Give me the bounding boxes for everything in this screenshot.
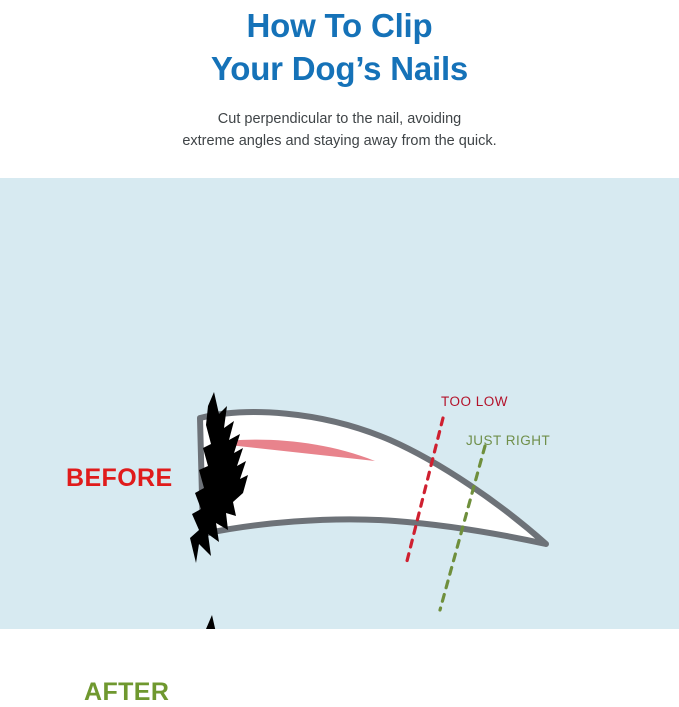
- diagram-illustration: [0, 178, 679, 629]
- before-nail-body: [200, 412, 546, 544]
- subtitle-line-1: Cut perpendicular to the nail, avoiding: [0, 108, 679, 130]
- too-low-label: TOO LOW: [441, 394, 508, 409]
- title-line-2: Your Dog’s Nails: [0, 47, 679, 90]
- page-subtitle: Cut perpendicular to the nail, avoiding …: [0, 108, 679, 152]
- after-paw-fur: [188, 615, 246, 629]
- title-line-1: How To Clip: [0, 4, 679, 47]
- after-nail-illustration: [188, 615, 462, 629]
- after-label: AFTER: [84, 678, 169, 707]
- just-right-label: JUST RIGHT: [466, 433, 550, 448]
- before-label: BEFORE: [66, 464, 173, 493]
- diagram-panel: BEFORE AFTER TOO LOW JUST RIGHT: [0, 178, 679, 629]
- before-nail-illustration: [190, 392, 546, 563]
- subtitle-line-2: extreme angles and staying away from the…: [0, 130, 679, 152]
- header: How To Clip Your Dog’s Nails Cut perpend…: [0, 0, 679, 178]
- infographic-root: How To Clip Your Dog’s Nails Cut perpend…: [0, 0, 679, 629]
- page-title: How To Clip Your Dog’s Nails: [0, 4, 679, 90]
